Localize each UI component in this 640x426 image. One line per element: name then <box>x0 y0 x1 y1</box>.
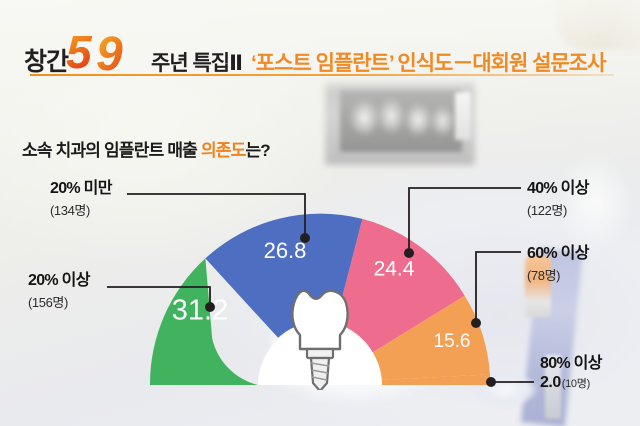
callout-40-over-label: 40% 이상 <box>527 180 589 198</box>
infographic-root: 창간 5 <box>0 0 640 426</box>
header-divider <box>30 74 614 76</box>
question-text-after: 는? <box>245 141 269 160</box>
svg-text:5: 5 <box>66 28 93 74</box>
callout-80-over-value: 2.0 <box>540 374 561 392</box>
callout-60-over: 60% 이상 (78명) <box>527 245 589 284</box>
half-donut-chart: 31.2 26.8 24.4 15.6 <box>130 190 510 386</box>
callout-20-over-label: 20% 이상 <box>28 272 90 290</box>
callout-40-over-count: (122명) <box>527 200 589 219</box>
header: 창간 5 <box>0 0 640 78</box>
callout-60-over-label: 60% 이상 <box>527 245 589 263</box>
question-highlight: 의존도 <box>201 141 246 160</box>
segment-label-20-over: 31.2 <box>172 295 228 327</box>
header-prefix: 창간 <box>24 50 68 75</box>
svg-text:9: 9 <box>96 28 123 74</box>
question-text-before: 소속 치과의 임플란트 매출 <box>22 141 201 160</box>
callout-20-over: 20% 이상 (156명) <box>28 272 90 311</box>
callout-60-over-count: (78명) <box>527 265 589 284</box>
segment-label-60-over: 15.6 <box>434 331 471 352</box>
callout-80-over: 80% 이상 2.0 (10명) <box>540 355 602 392</box>
page-title: 소속 치과의 임플란트 매출 의존도는? <box>22 136 270 161</box>
segment-label-20-under: 26.8 <box>264 238 307 263</box>
callout-40-over: 40% 이상 (122명) <box>527 180 589 219</box>
callout-20-under-count: (134명) <box>50 200 112 219</box>
callout-80-over-count: (10명) <box>562 375 590 391</box>
callout-20-under: 20% 미만 (134명) <box>50 180 112 219</box>
header-title: ‘포스트 임플란트’ 인식도－대회원 설문조사 <box>251 53 605 74</box>
header-anniversary-label: 주년 특집Ⅱ <box>151 53 242 74</box>
callout-20-under-label: 20% 미만 <box>50 180 112 198</box>
anniversary-59-logo: 5 9 <box>66 28 142 79</box>
callout-80-over-label: 80% 이상 <box>540 355 602 373</box>
callout-20-over-count: (156명) <box>28 292 90 311</box>
segment-label-40-over: 24.4 <box>374 258 415 281</box>
